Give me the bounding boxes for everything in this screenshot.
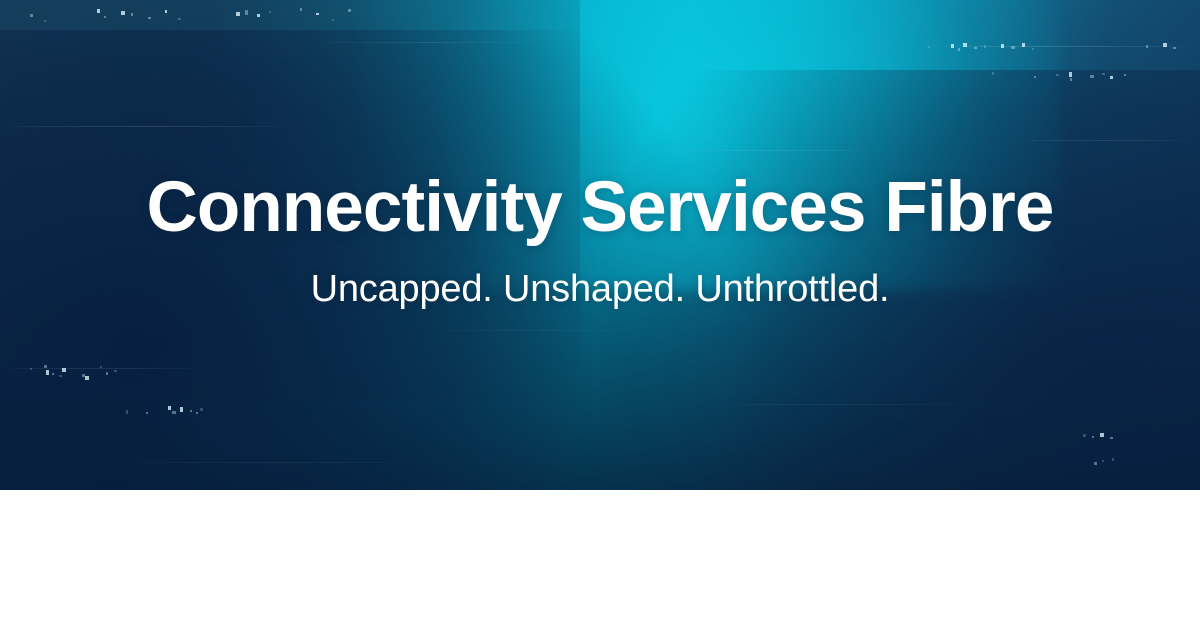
data-speck bbox=[1070, 78, 1072, 81]
data-speck bbox=[236, 12, 240, 16]
data-speck bbox=[1110, 437, 1113, 439]
data-speck bbox=[100, 366, 102, 368]
hero-subtitle: Uncapped. Unshaped. Unthrottled. bbox=[0, 265, 1200, 313]
light-streak bbox=[930, 46, 1200, 47]
data-speck bbox=[148, 17, 151, 19]
light-streak bbox=[0, 126, 300, 127]
data-speck bbox=[104, 16, 106, 18]
page-root: Connectivity Services Fibre Uncapped. Un… bbox=[0, 0, 1200, 630]
data-speck bbox=[97, 9, 100, 13]
data-speck bbox=[30, 14, 33, 17]
data-speck bbox=[1090, 75, 1094, 78]
data-speck bbox=[114, 370, 117, 372]
data-speck bbox=[44, 20, 46, 22]
data-speck bbox=[1102, 73, 1105, 75]
data-speck bbox=[1173, 47, 1176, 49]
footer-bar: afrihost purefibre bbox=[0, 490, 1200, 630]
data-speck bbox=[963, 43, 967, 47]
data-speck bbox=[168, 406, 171, 410]
data-speck bbox=[316, 13, 319, 15]
light-streak bbox=[310, 42, 550, 43]
data-speck bbox=[1094, 462, 1097, 465]
data-speck bbox=[992, 72, 994, 75]
data-speck bbox=[1092, 436, 1094, 438]
data-speck bbox=[1032, 48, 1034, 50]
hero-banner: Connectivity Services Fibre Uncapped. Un… bbox=[0, 0, 1200, 490]
data-speck bbox=[46, 370, 49, 375]
data-speck bbox=[190, 410, 192, 412]
data-speck bbox=[1056, 74, 1059, 76]
data-speck bbox=[146, 412, 148, 414]
data-speck bbox=[1001, 44, 1004, 48]
data-speck bbox=[62, 368, 66, 372]
data-speck bbox=[200, 408, 203, 411]
data-speck bbox=[126, 410, 128, 414]
data-speck bbox=[44, 365, 47, 368]
page-title: Connectivity Services Fibre bbox=[0, 168, 1200, 248]
data-speck bbox=[180, 407, 183, 412]
data-speck bbox=[1069, 72, 1072, 77]
data-speck bbox=[300, 8, 302, 11]
data-speck bbox=[196, 412, 198, 414]
data-speck bbox=[1022, 43, 1025, 47]
light-streak bbox=[420, 330, 640, 331]
data-speck bbox=[951, 44, 954, 48]
data-speck bbox=[257, 14, 260, 17]
data-speck bbox=[332, 19, 334, 21]
data-speck bbox=[1146, 45, 1148, 48]
data-speck bbox=[1102, 460, 1104, 462]
data-speck bbox=[984, 45, 986, 48]
data-speck bbox=[1124, 74, 1126, 76]
data-speck bbox=[178, 18, 181, 20]
data-speck bbox=[974, 47, 977, 49]
data-speck bbox=[106, 372, 108, 375]
light-streak bbox=[700, 404, 1000, 405]
data-speck bbox=[1112, 458, 1114, 461]
data-speck bbox=[928, 46, 930, 48]
data-speck bbox=[172, 411, 176, 414]
light-streak bbox=[640, 150, 920, 151]
data-speck bbox=[52, 373, 54, 375]
data-speck bbox=[131, 13, 133, 16]
data-speck bbox=[1034, 76, 1036, 78]
data-speck bbox=[1083, 434, 1086, 437]
data-speck bbox=[958, 48, 960, 51]
data-speck bbox=[1163, 43, 1167, 47]
data-speck bbox=[348, 9, 351, 12]
data-speck bbox=[1011, 46, 1015, 49]
data-speck bbox=[85, 376, 89, 380]
data-speck bbox=[269, 11, 271, 13]
data-speck bbox=[1100, 433, 1104, 437]
data-speck bbox=[59, 375, 62, 377]
data-speck bbox=[121, 11, 125, 15]
data-speck bbox=[165, 10, 167, 13]
data-speck bbox=[30, 368, 32, 370]
data-speck bbox=[245, 10, 248, 15]
light-streak bbox=[120, 462, 450, 463]
data-speck bbox=[1110, 76, 1113, 79]
light-streak bbox=[1010, 140, 1200, 141]
